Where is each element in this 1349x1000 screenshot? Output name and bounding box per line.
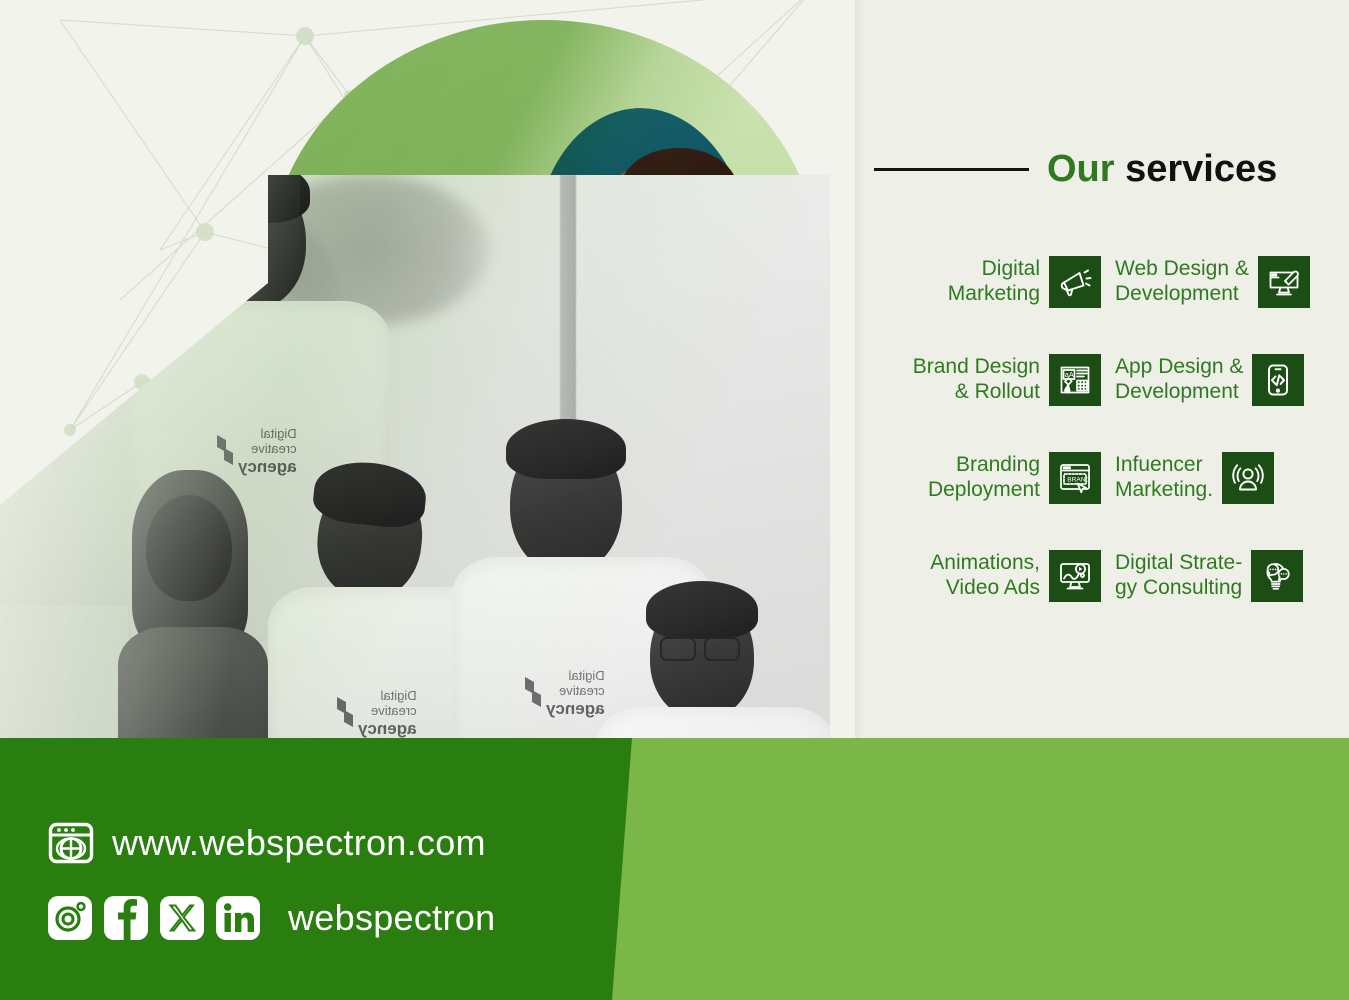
svg-text:BRAND: BRAND [1067,477,1090,484]
browser-globe-icon [48,820,94,866]
service-item-branding-deployment[interactable]: Branding Deployment BRAND [868,452,1101,504]
service-label: Digital Strate- gy Consulting [1115,551,1242,601]
member-hair [0,175,93,265]
website-url: www.webspectron.com [112,822,486,864]
instagram-icon[interactable] [48,896,92,940]
page-title: Our services [1047,148,1277,191]
service-item-app-design[interactable]: App Design & Development [1101,354,1334,406]
phone-code-icon [1252,354,1304,406]
service-label: Animations, Video Ads [930,551,1040,601]
service-label: Brand Design & Rollout [913,355,1040,405]
linkedin-icon[interactable] [216,896,260,940]
brand-browser-icon: BRAND [1049,452,1101,504]
social-row[interactable]: webspectron [48,896,495,940]
shirt-line2: creative [38,366,97,381]
x-twitter-icon[interactable] [160,896,204,940]
social-handle: webspectron [288,897,495,939]
bulb-chat-icon [1251,550,1303,602]
shirt-line3: agency [38,381,97,400]
service-item-web-design[interactable]: Web Design & Development [1101,256,1334,308]
page-title-accent: Our [1047,148,1115,190]
poster-canvas: Digital creative agency [0,0,1349,1000]
service-label: Digital Marketing [948,257,1040,307]
agency-logo-icon [14,357,36,391]
megaphone-icon [1049,256,1101,308]
shirt-line1: Digital [38,351,97,366]
services-row: Digital Marketing Web Design & Developme… [868,256,1334,308]
member-head [0,185,100,337]
page-title-rest: services [1115,148,1278,190]
services-row: Branding Deployment BRAND Infuencer Mark… [868,452,1334,504]
brand-sheet-icon: aA [1049,354,1101,406]
video-monitor-icon [1049,550,1101,602]
service-label: Branding Deployment [928,453,1040,503]
service-item-digital-marketing[interactable]: Digital Marketing [868,256,1101,308]
services-row: Brand Design & Rollout aA App Design & D… [868,354,1334,406]
service-item-influencer-marketing[interactable]: Infuencer Marketing. [1101,452,1334,504]
services-row: Animations, Video Ads Digital Strate- gy… [868,550,1334,602]
service-item-animations[interactable]: Animations, Video Ads [868,550,1101,602]
heading-rule [874,168,1029,171]
influencer-icon [1222,452,1274,504]
website-row[interactable]: www.webspectron.com [48,820,495,866]
service-label: Infuencer Marketing. [1115,453,1213,503]
services-heading: Our services [874,148,1304,191]
monitor-brush-icon [1258,256,1310,308]
footer-content: www.webspectron.com [48,820,495,940]
service-item-brand-design[interactable]: Brand Design & Rollout aA [868,354,1101,406]
service-label: App Design & Development [1115,355,1243,405]
member-shirt-text: Digital creative agency [38,351,97,400]
facebook-icon[interactable] [104,896,148,940]
service-item-digital-strategy[interactable]: Digital Strate- gy Consulting [1101,550,1334,602]
service-label: Web Design & Development [1115,257,1249,307]
services-grid: Digital Marketing Web Design & Developme… [868,256,1334,648]
